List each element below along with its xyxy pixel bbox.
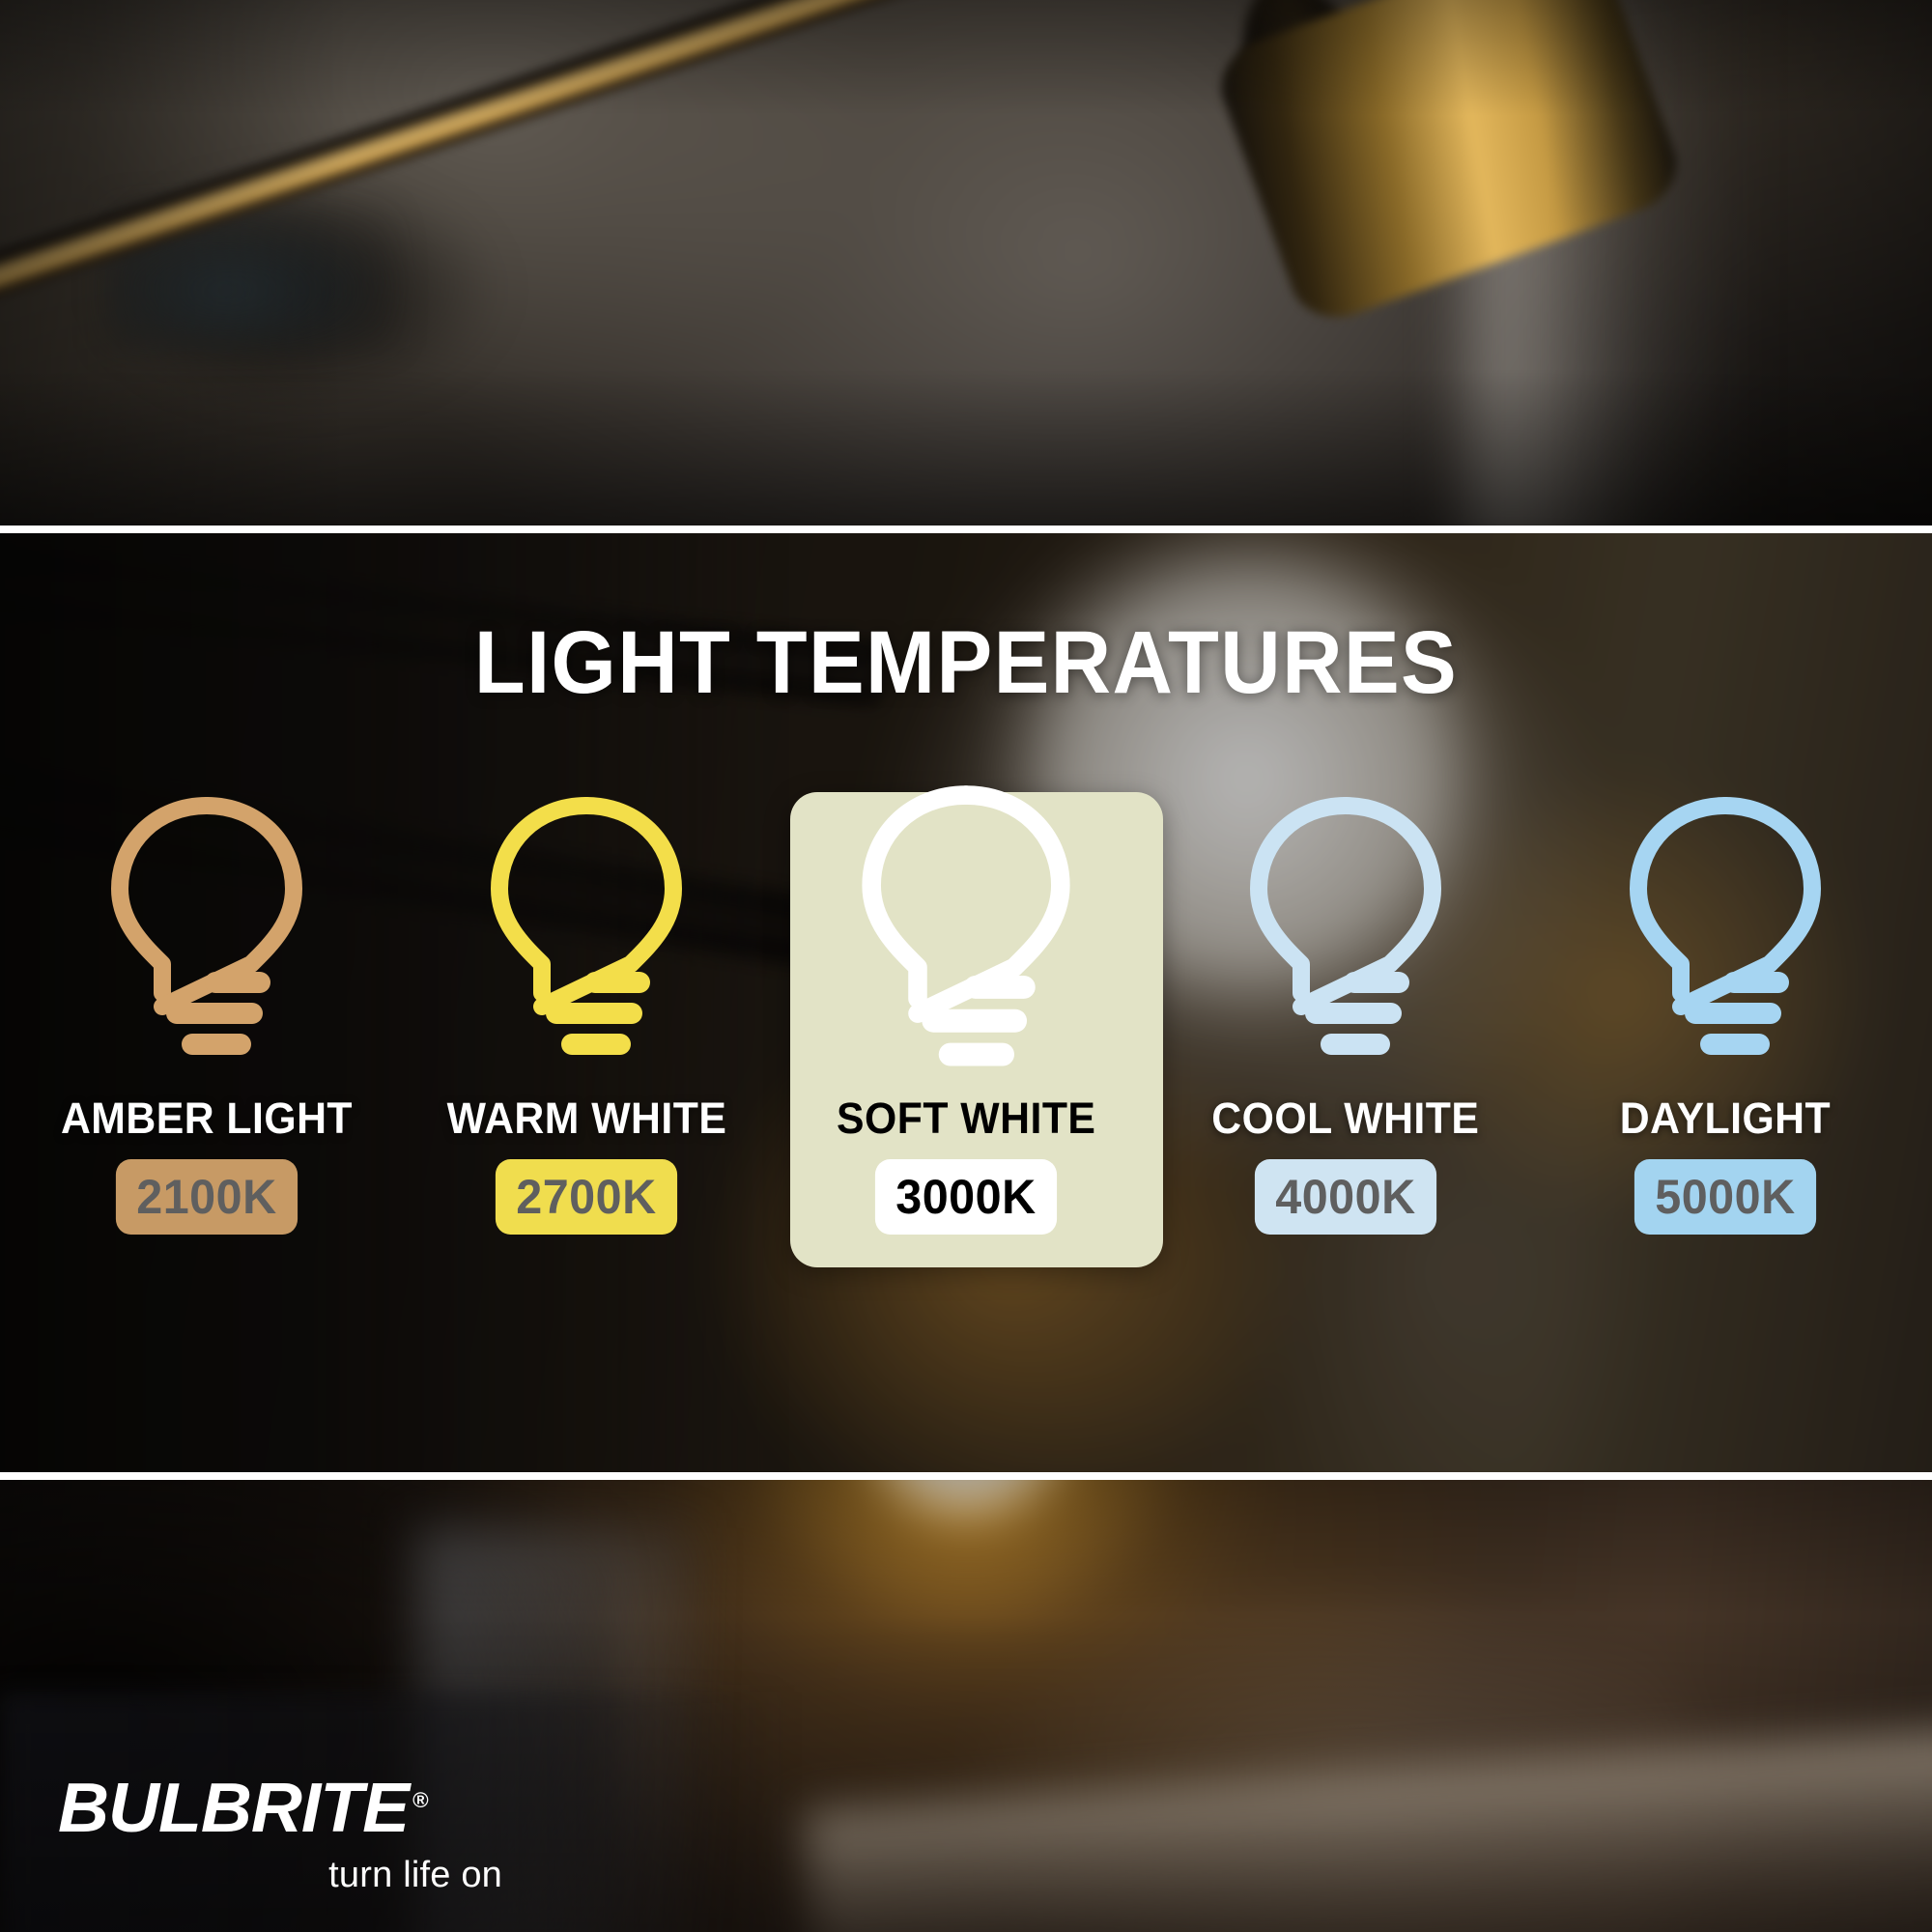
page-title: LIGHT TEMPERATURES — [58, 612, 1874, 714]
light-bulb-icon — [846, 782, 1086, 1072]
infographic-stage: LIGHT TEMPERATURES — [0, 0, 1932, 1932]
brand-tagline: turn life on — [58, 1855, 502, 1896]
top-photo-track-light — [0, 0, 1932, 526]
light-temperature-panel: LIGHT TEMPERATURES — [0, 533, 1932, 1472]
light-bulb-icon — [1236, 782, 1456, 1072]
kelvin-badge: 2100K — [116, 1159, 298, 1235]
light-bulb-icon — [97, 782, 317, 1072]
column-label: WARM WHITE — [446, 1094, 726, 1144]
brand-logo[interactable]: BULBRITE® turn life on — [58, 1774, 502, 1896]
brand-wordmark: BULBRITE® — [58, 1774, 511, 1843]
registered-mark-icon: ® — [412, 1788, 428, 1812]
temperature-column-amber-light[interactable]: AMBER LIGHT 2100K — [17, 782, 397, 1235]
kelvin-badge: 5000K — [1634, 1159, 1816, 1235]
temperature-column-soft-white[interactable]: SOFT WHITE 3000K — [777, 782, 1156, 1235]
light-bulb-icon — [1615, 782, 1835, 1072]
brand-name: BULBRITE — [58, 1770, 409, 1847]
column-label: AMBER LIGHT — [61, 1094, 353, 1144]
column-label: COOL WHITE — [1211, 1094, 1479, 1144]
temperature-column-warm-white[interactable]: WARM WHITE 2700K — [397, 782, 777, 1235]
divider-bottom — [0, 1472, 1932, 1480]
column-label: SOFT WHITE — [837, 1094, 1095, 1144]
light-bulb-icon — [476, 782, 696, 1072]
temperature-column-daylight[interactable]: DAYLIGHT 5000K — [1536, 782, 1916, 1235]
column-label: DAYLIGHT — [1620, 1094, 1831, 1144]
temperature-columns: AMBER LIGHT 2100K — [0, 782, 1932, 1362]
kelvin-badge: 2700K — [496, 1159, 677, 1235]
kelvin-badge: 3000K — [875, 1159, 1057, 1235]
divider-top — [0, 526, 1932, 533]
kelvin-badge: 4000K — [1255, 1159, 1436, 1235]
top-vignette — [0, 0, 1932, 526]
temperature-column-cool-white[interactable]: COOL WHITE 4000K — [1156, 782, 1536, 1235]
